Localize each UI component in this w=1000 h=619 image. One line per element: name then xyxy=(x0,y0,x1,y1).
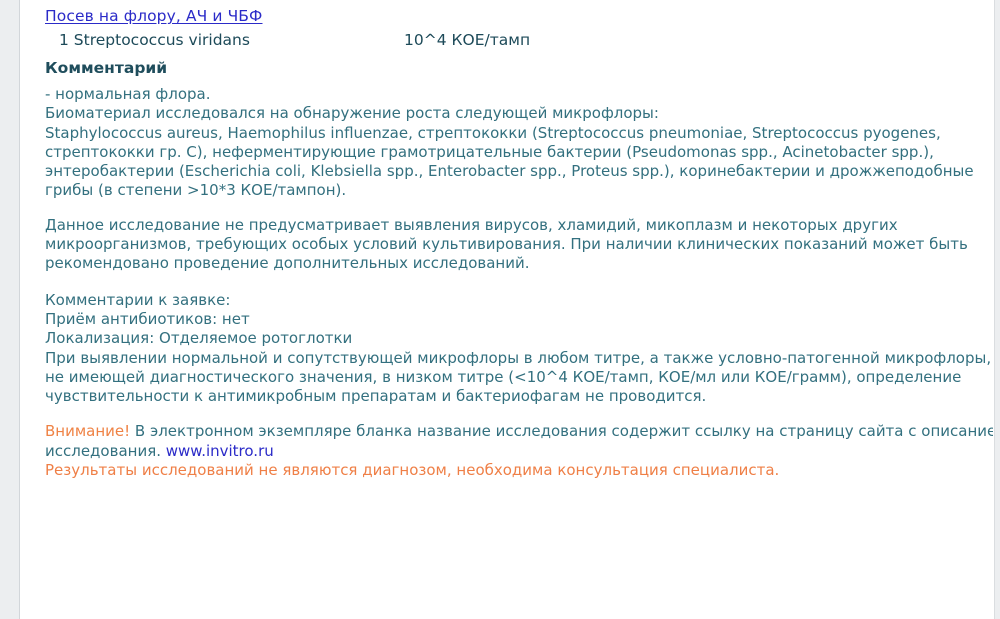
order-comments-line-1: Комментарии к заявке: xyxy=(45,291,985,310)
comment-line-1: - нормальная флора. xyxy=(45,85,985,104)
comment-line-5: энтеробактерии (Escherichia coli, Klebsi… xyxy=(45,162,985,181)
comment-line-3: Staphylococcus aureus, Haemophilus influ… xyxy=(45,124,985,143)
scope-line-2: микроорганизмов, требующих особых услови… xyxy=(45,235,985,254)
page-left-margin xyxy=(0,0,20,619)
result-name: 1 Streptococcus viridans xyxy=(59,29,250,51)
report-content: Посев на флору, АЧ и ЧБФ 1 Streptococcus… xyxy=(45,6,985,480)
test-title-link[interactable]: Посев на флору, АЧ и ЧБФ xyxy=(45,6,263,26)
comment-line-6: грибы (в степени >10*3 КОЕ/тампон). xyxy=(45,181,985,200)
comment-line-2: Биоматериал исследовался на обнаружение … xyxy=(45,104,985,123)
order-comments-paragraph: Комментарии к заявке: Приём антибиотиков… xyxy=(45,291,985,407)
scope-paragraph: Данное исследование не предусматривает в… xyxy=(45,216,985,274)
attention-text-second: исследования. xyxy=(45,442,166,460)
page-right-margin xyxy=(994,0,1000,619)
order-comments-line-6: чувствительности к антимикробным препара… xyxy=(45,387,985,406)
order-comments-line-3: Локализация: Отделяемое ротоглотки xyxy=(45,329,985,348)
notice-paragraph: Внимание! В электронном экземпляре бланк… xyxy=(45,422,985,480)
comment-section-heading: Комментарий xyxy=(45,58,985,78)
comment-line-4: стрептококки гр. С), неферментирующие гр… xyxy=(45,143,985,162)
scope-line-1: Данное исследование не предусматривает в… xyxy=(45,216,985,235)
order-comments-line-4: При выявлении нормальной и сопутствующей… xyxy=(45,349,985,368)
attention-label: Внимание! xyxy=(45,422,130,440)
notice-line-2: исследования. www.invitro.ru xyxy=(45,442,985,461)
notice-line-1: Внимание! В электронном экземпляре бланк… xyxy=(45,422,985,441)
attention-text-first: В электронном экземпляре бланка название… xyxy=(130,422,993,440)
lab-report-page: Посев на флору, АЧ и ЧБФ 1 Streptococcus… xyxy=(0,0,1000,619)
website-link[interactable]: www.invitro.ru xyxy=(166,442,274,460)
disclaimer-line: Результаты исследований не являются диаг… xyxy=(45,461,985,480)
result-value: 10^4 КОЕ/тамп xyxy=(404,29,530,51)
result-row: 1 Streptococcus viridans 10^4 КОЕ/тамп xyxy=(45,29,985,53)
comment-paragraph: - нормальная флора. Биоматериал исследов… xyxy=(45,85,985,201)
scope-line-3: рекомендовано проведение дополнительных … xyxy=(45,254,985,273)
report-sheet: Посев на флору, АЧ и ЧБФ 1 Streptococcus… xyxy=(21,0,993,619)
order-comments-line-2: Приём антибиотиков: нет xyxy=(45,310,985,329)
order-comments-line-5: не имеющей диагностического значения, в … xyxy=(45,368,985,387)
